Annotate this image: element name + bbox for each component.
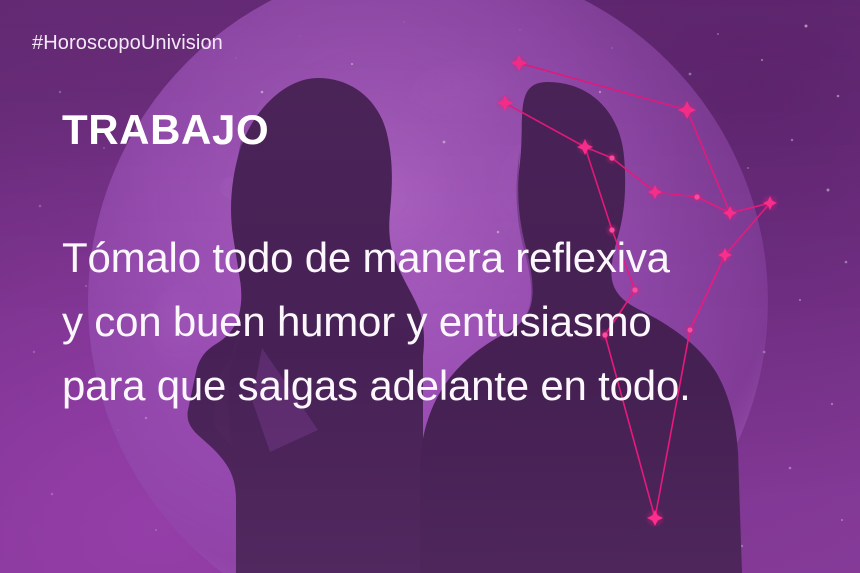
page-title: TRABAJO [62, 106, 269, 154]
hashtag-label: #HoroscopoUnivision [32, 32, 223, 55]
horoscope-body: Tómalo todo de manera reflexiva y con bu… [62, 226, 852, 418]
horoscope-card: #HoroscopoUnivision TRABAJO Tómalo todo … [0, 0, 860, 573]
body-line-2: y con buen humor y entusiasmo [62, 290, 852, 354]
body-line-1: Tómalo todo de manera reflexiva [62, 226, 852, 290]
body-line-3: para que salgas adelante en todo. [62, 354, 852, 418]
